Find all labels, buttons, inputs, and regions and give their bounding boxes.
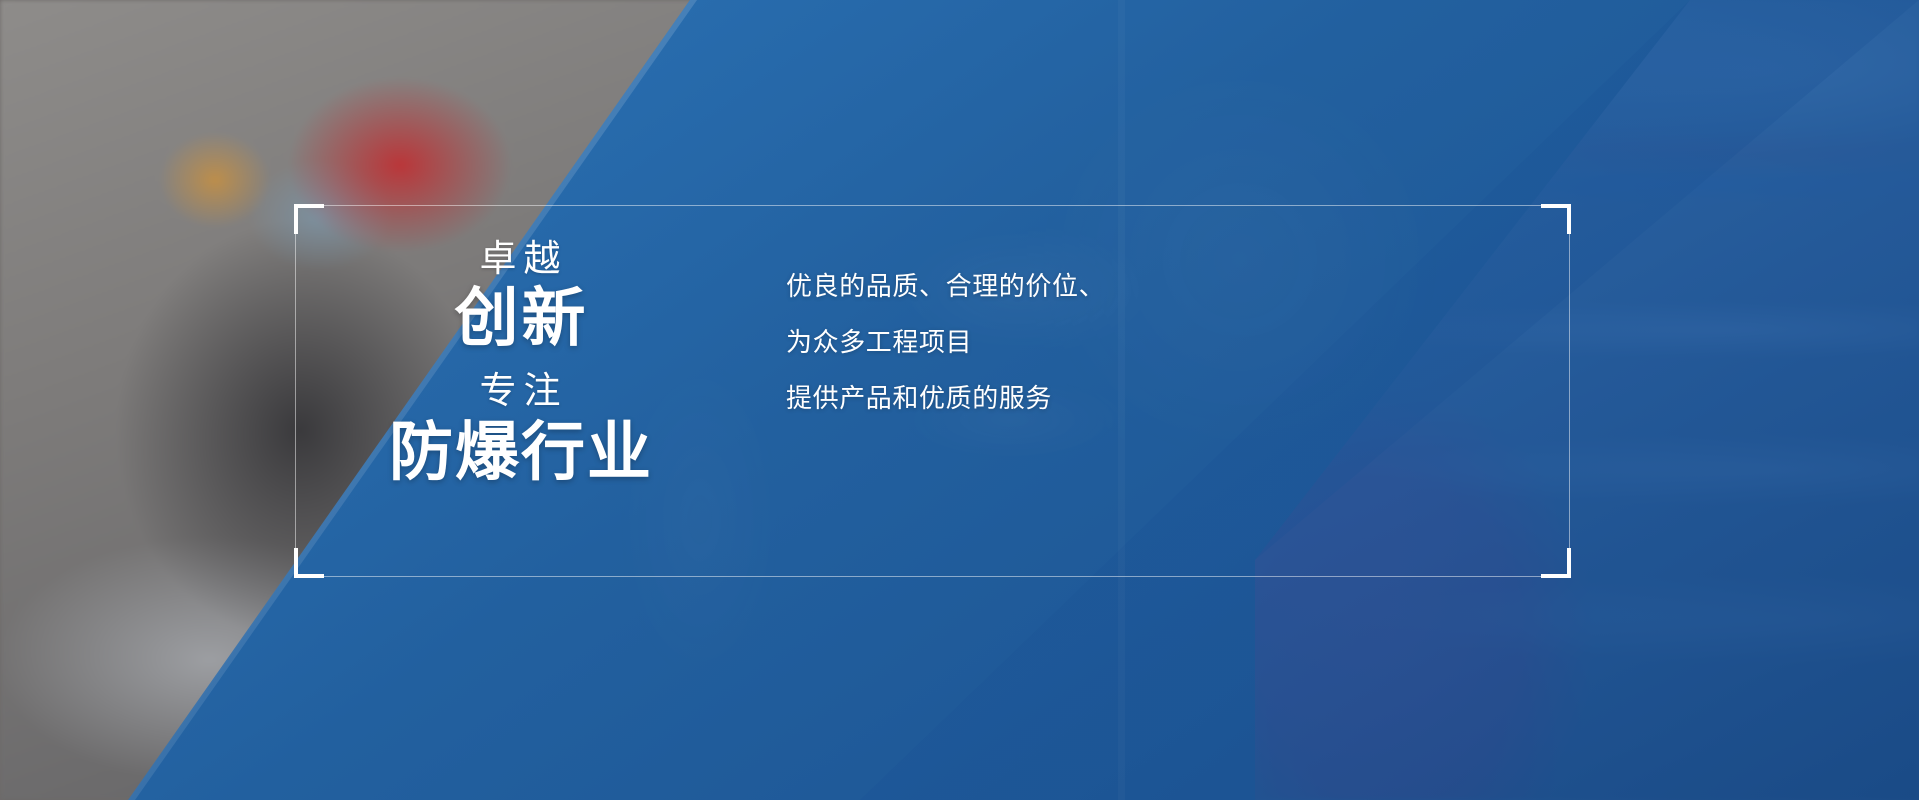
headline-block: 卓越 创新 专注 防爆行业 bbox=[370, 238, 670, 491]
headline-eyebrow-1: 卓越 bbox=[370, 238, 670, 279]
description-line-2: 为众多工程项目 bbox=[786, 314, 1105, 370]
headline-title-2: 防爆行业 bbox=[370, 413, 670, 491]
description-line-1: 优良的品质、合理的价位、 bbox=[786, 258, 1105, 314]
hero-banner: 卓越 创新 专注 防爆行业 优良的品质、合理的价位、 为众多工程项目 提供产品和… bbox=[0, 0, 1919, 800]
headline-eyebrow-2: 专注 bbox=[370, 370, 670, 411]
headline-title-1: 创新 bbox=[370, 279, 670, 357]
description-line-3: 提供产品和优质的服务 bbox=[786, 370, 1105, 426]
description-block: 优良的品质、合理的价位、 为众多工程项目 提供产品和优质的服务 bbox=[786, 258, 1105, 426]
